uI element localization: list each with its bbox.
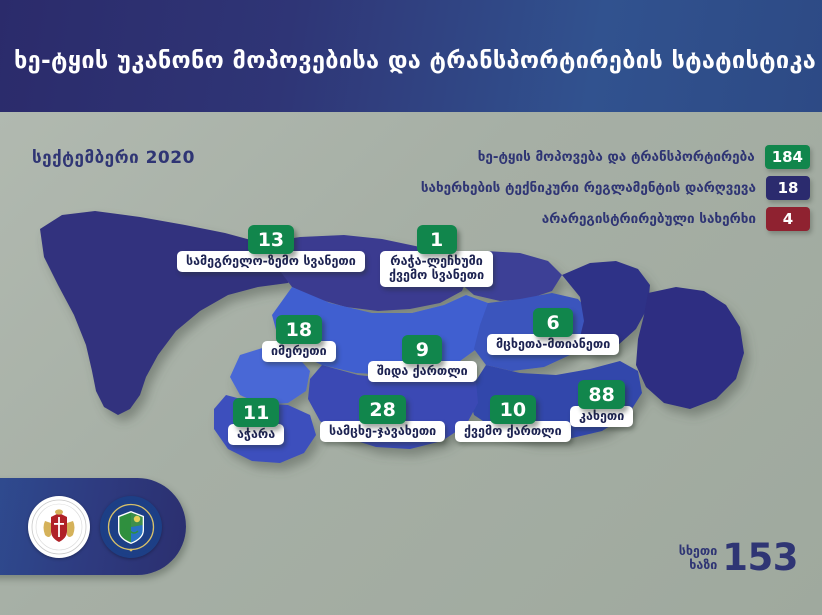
- ministry-emblem-icon: [28, 496, 90, 558]
- coat-of-arms-icon: [31, 499, 87, 555]
- region-marker-adjara[interactable]: 11 აჭარა: [228, 398, 284, 445]
- date-label: სექტემბერი 2020: [32, 148, 195, 168]
- region-count: 1: [417, 225, 457, 254]
- region-marker-samtskhe[interactable]: 28 სამცხე-ჯავახეთი: [320, 395, 445, 442]
- region-count: 88: [578, 380, 624, 409]
- legend-item-timber: ხე-ტყის მოპოვება და ტრანსპორტირება 184: [250, 143, 810, 171]
- header-banner: ხე-ტყის უკანონო მოპოვებისა და ტრანსპორტი…: [0, 0, 822, 112]
- legend-label: სახერხების ტექნიკური რეგლამენტის დარღვევ…: [421, 180, 756, 196]
- region-count: 13: [248, 225, 294, 254]
- infographic-root: ხე-ტყის უკანონო მოპოვებისა და ტრანსპორტი…: [0, 0, 822, 615]
- page-title: ხე-ტყის უკანონო მოპოვებისა და ტრანსპორტი…: [0, 46, 822, 74]
- region-count: 10: [490, 395, 536, 424]
- region-marker-kakheti[interactable]: 88 კახეთი: [570, 380, 633, 427]
- agency-seal-icon: [102, 498, 160, 556]
- region-name: იმერეთი: [262, 341, 336, 362]
- logo-panel: [0, 478, 186, 575]
- region-count: 11: [233, 398, 279, 427]
- region-count: 6: [533, 308, 573, 337]
- region-count: 9: [402, 335, 442, 364]
- region-marker-mtskheta[interactable]: 6 მცხეთა-მთიანეთი: [487, 308, 619, 355]
- region-name: ქვემო ქართლი: [455, 421, 571, 442]
- region-name: აჭარა: [228, 424, 284, 445]
- region-shape-kakheti: [636, 287, 744, 409]
- region-marker-racha[interactable]: 1 რაჭა-ლეჩხუმი ქვემო სვანეთი: [380, 225, 493, 287]
- region-name: რაჭა-ლეჩხუმი ქვემო სვანეთი: [380, 251, 493, 287]
- legend-badge-timber: 184: [765, 145, 810, 169]
- region-name: სამეგრელო-ზემო სვანეთი: [177, 251, 365, 272]
- region-name: შიდა ქართლი: [368, 361, 477, 382]
- total-value: 153: [722, 536, 798, 579]
- region-marker-shida-kartli[interactable]: 9 შიდა ქართლი: [368, 335, 477, 382]
- agency-emblem-icon: [100, 496, 162, 558]
- region-count: 28: [359, 395, 405, 424]
- region-marker-imereti[interactable]: 18 იმერეთი: [262, 315, 336, 362]
- total-summary: სხეთი ხაზი 153: [679, 536, 798, 579]
- region-name: მცხეთა-მთიანეთი: [487, 334, 619, 355]
- region-name: სამცხე-ჯავახეთი: [320, 421, 445, 442]
- total-label: სხეთი ხაზი: [679, 544, 718, 570]
- region-name: კახეთი: [570, 406, 633, 427]
- region-marker-samegrelo[interactable]: 13 სამეგრელო-ზემო სვანეთი: [177, 225, 365, 272]
- region-count: 18: [276, 315, 322, 344]
- georgia-map: 13 სამეგრელო-ზემო სვანეთი 1 რაჭა-ლეჩხუმი…: [0, 195, 822, 505]
- region-marker-kvemo-kartli[interactable]: 10 ქვემო ქართლი: [455, 395, 571, 442]
- legend-label: ხე-ტყის მოპოვება და ტრანსპორტირება: [478, 149, 755, 165]
